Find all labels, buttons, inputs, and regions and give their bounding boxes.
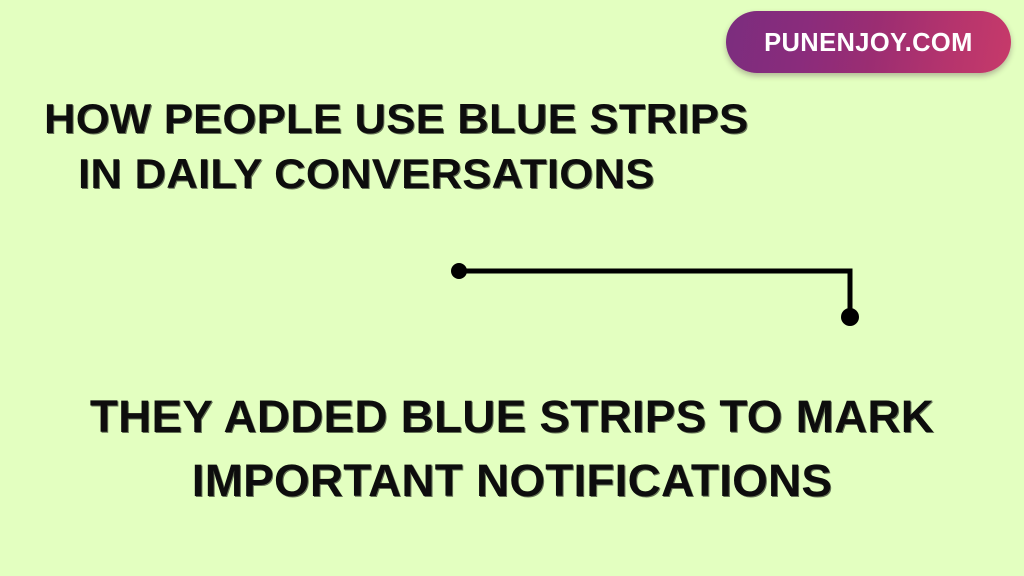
elbow-connector (430, 245, 880, 345)
headline-block: HOW PEOPLE USE BLUE STRIPS IN DAILY CONV… (44, 92, 824, 201)
connector-path (459, 271, 850, 317)
statement-block: THEY ADDED BLUE STRIPS TO MARK IMPORTANT… (0, 385, 1024, 513)
connector-start-dot (451, 263, 467, 279)
headline-line-1: HOW PEOPLE USE BLUE STRIPS (44, 92, 855, 147)
headline-line-2: IN DAILY CONVERSATIONS (78, 147, 854, 202)
statement-line-2: IMPORTANT NOTIFICATIONS (0, 449, 1024, 513)
elbow-connector-icon (430, 245, 880, 345)
statement-line-1: THEY ADDED BLUE STRIPS TO MARK (0, 385, 1024, 449)
brand-badge-label: PUNENJOY.COM (764, 29, 973, 55)
brand-badge[interactable]: PUNENJOY.COM (726, 11, 1011, 73)
connector-end-dot (841, 308, 859, 326)
slide-canvas: PUNENJOY.COM HOW PEOPLE USE BLUE STRIPS … (0, 0, 1024, 576)
